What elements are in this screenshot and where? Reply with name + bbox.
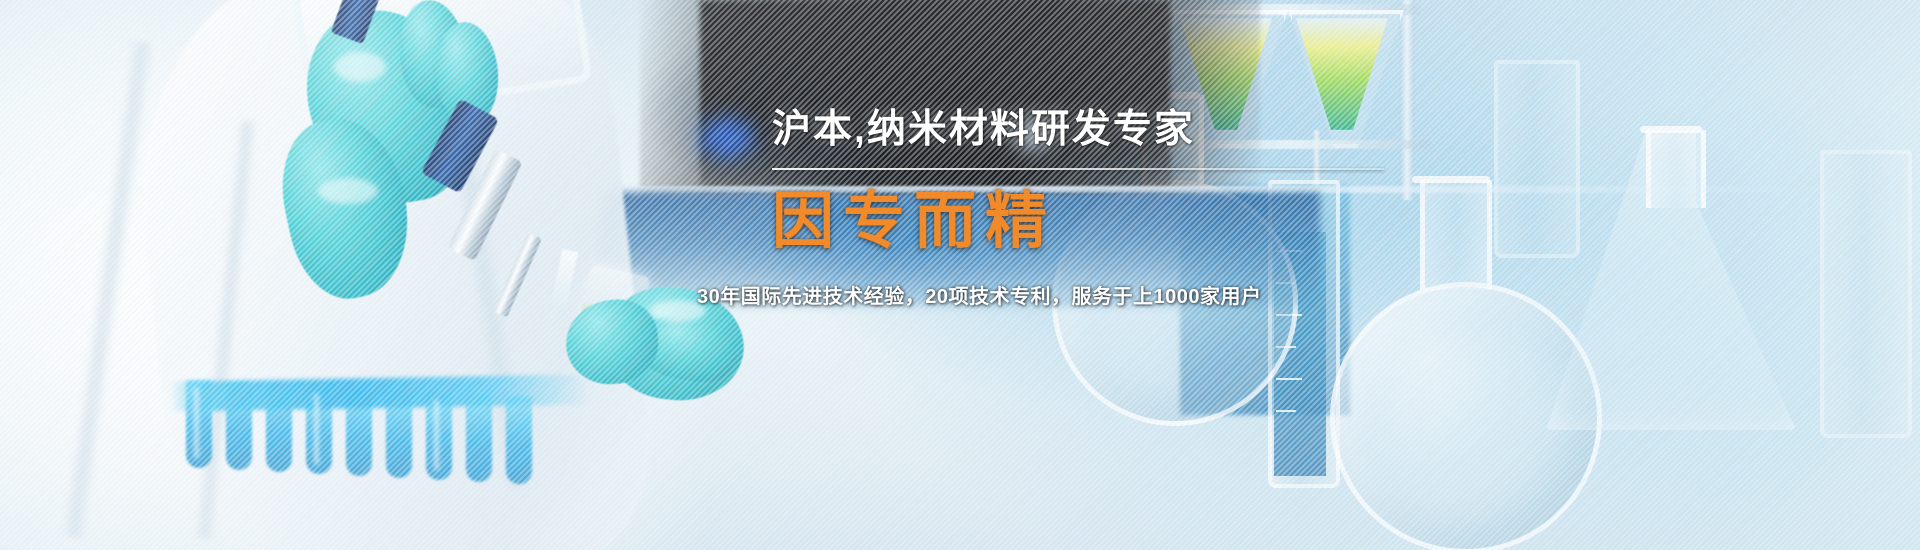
cylinder-tick (1276, 410, 1296, 412)
banner-slogan: 因专而精 (772, 189, 1392, 254)
stand-post-right (1400, 0, 1414, 200)
banner-copy-block: 沪本,纳米材料研发专家 因专而精 30年国际先进技术经验，20项技术专利，服务于… (772, 110, 1392, 309)
erlenmeyer-neck (1646, 130, 1706, 208)
flask-neck-right (1420, 180, 1492, 290)
banner-subtitle: 30年国际先进技术经验，20项技术专利，服务于上1000家用户 (697, 280, 1392, 309)
banner-headline: 沪本,纳米材料研发专家 (772, 110, 1392, 149)
glove-highlight (318, 178, 378, 204)
headline-divider (772, 168, 1384, 170)
cylinder-tick (1276, 378, 1302, 380)
tube-highlight (314, 394, 319, 464)
tube-highlight (194, 388, 199, 458)
tube-highlight (434, 400, 439, 470)
test-tube (466, 394, 492, 482)
test-tube (506, 396, 532, 484)
flask-lip-right (1412, 176, 1490, 183)
erlenmeyer-lip (1640, 126, 1702, 133)
monitor-blue-glow-1 (700, 118, 754, 158)
background-cylinder (1820, 150, 1912, 438)
background-beaker (1494, 60, 1580, 258)
hero-banner: 沪本,纳米材料研发专家 因专而精 30年国际先进技术经验，20项技术专利，服务于… (0, 0, 1920, 550)
glove-highlight (334, 52, 386, 82)
